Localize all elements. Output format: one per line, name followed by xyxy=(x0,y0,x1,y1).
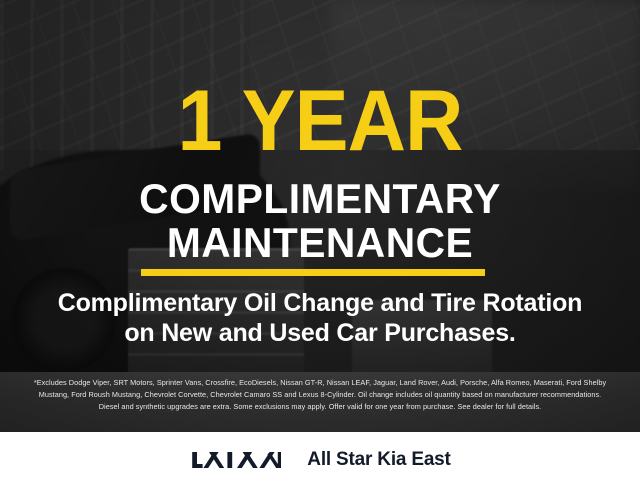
headline-secondary-line1: COMPLIMENTARY xyxy=(10,178,631,220)
yellow-divider-bar xyxy=(141,269,485,276)
disclaimer-line-2: Mustang, Ford Roush Mustang, Chevrolet C… xyxy=(14,389,626,401)
subheading: Complimentary Oil Change and Tire Rotati… xyxy=(0,288,640,348)
subheading-line1: Complimentary Oil Change and Tire Rotati… xyxy=(58,289,583,317)
headline-primary: 1 YEAR xyxy=(19,78,621,164)
footer-branding-bar: All Star Kia East xyxy=(0,432,640,488)
promotional-advertisement: 1 YEAR COMPLIMENTARY MAINTENANCE Complim… xyxy=(0,0,640,488)
subheading-line2: on New and Used Car Purchases. xyxy=(0,318,640,348)
kia-logo xyxy=(189,447,281,473)
hero-background-image: 1 YEAR COMPLIMENTARY MAINTENANCE Complim… xyxy=(0,0,640,432)
dealer-name: All Star Kia East xyxy=(307,449,450,471)
disclaimer-text: *Excludes Dodge Viper, SRT Motors, Sprin… xyxy=(14,377,626,414)
disclaimer-line-1: *Excludes Dodge Viper, SRT Motors, Sprin… xyxy=(14,377,626,389)
headline-secondary-line2: MAINTENANCE xyxy=(10,222,631,264)
headline-group: 1 YEAR COMPLIMENTARY MAINTENANCE Complim… xyxy=(0,0,640,432)
disclaimer-line-3: Diesel and synthetic upgrades are extra.… xyxy=(14,401,626,413)
